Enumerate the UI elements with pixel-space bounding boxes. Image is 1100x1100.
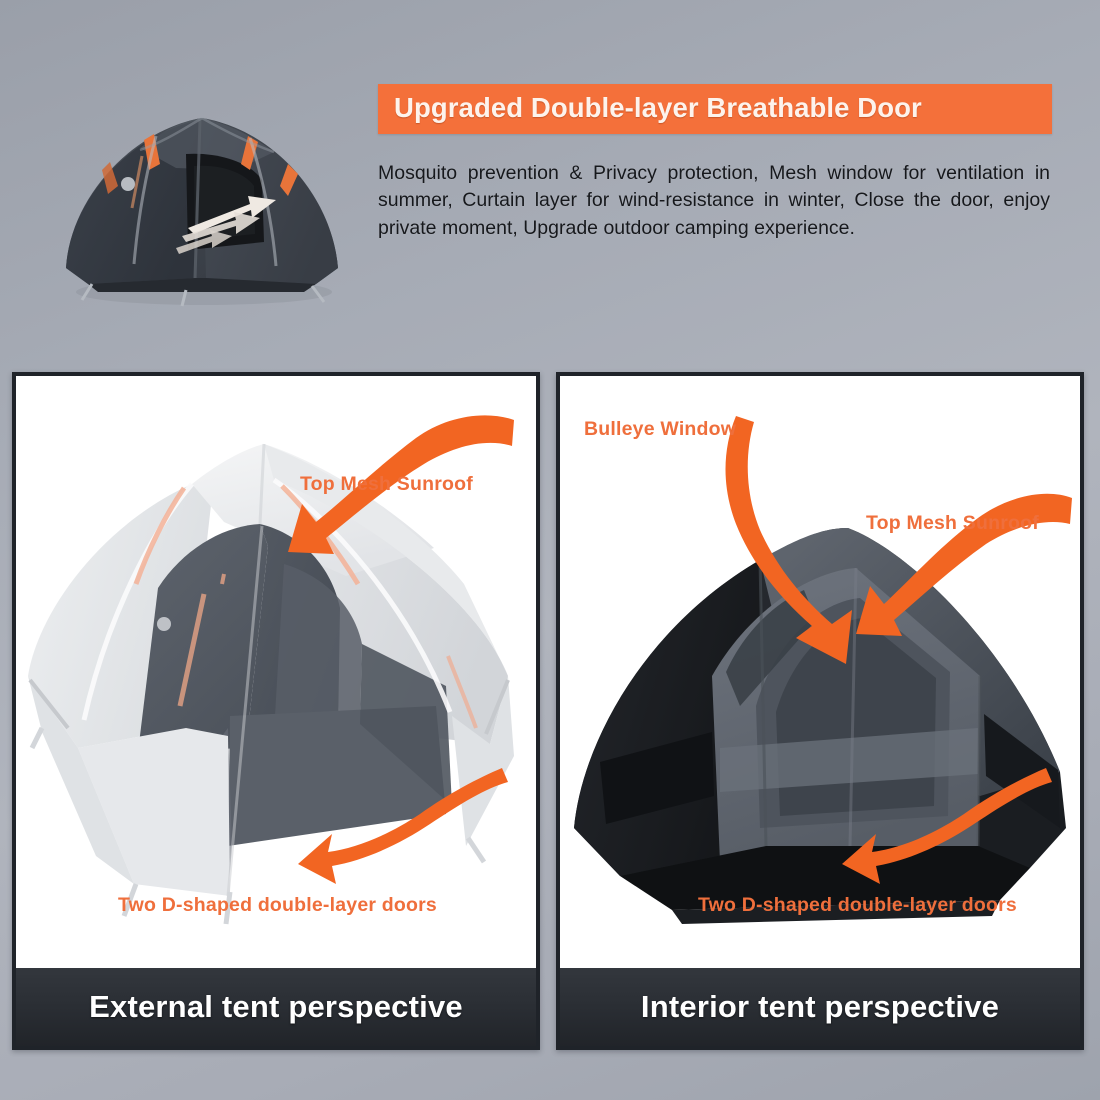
annotation-external-top-mesh-sunroof: Top Mesh Sunroof — [300, 473, 473, 496]
panel-interior-perspective: Interior tent perspective — [556, 372, 1084, 1050]
caption-text-external: External tent perspective — [89, 989, 463, 1025]
annotation-interior-bulleye-window: Bulleye Window — [584, 418, 736, 441]
description-text: Mosquito prevention & Privacy protection… — [378, 160, 1050, 243]
annotation-interior-two-d-shaped-doors: Two D-shaped double-layer doors — [698, 894, 1017, 917]
page-title: Upgraded Double-layer Breathable Door — [394, 93, 1036, 123]
tent-external-illustration-icon — [16, 376, 536, 968]
top-section: Upgraded Double-layer Breathable Door Mo… — [0, 0, 1100, 360]
annotation-external-two-d-shaped-doors: Two D-shaped double-layer doors — [118, 894, 437, 917]
caption-text-interior: Interior tent perspective — [641, 989, 999, 1025]
header-block: Upgraded Double-layer Breathable Door Mo… — [378, 84, 1068, 243]
external-tent-illustration — [16, 376, 536, 968]
annotation-interior-top-mesh-sunroof: Top Mesh Sunroof — [866, 512, 1039, 535]
title-banner: Upgraded Double-layer Breathable Door — [378, 84, 1052, 134]
tent-interior-illustration-icon — [560, 376, 1080, 968]
interior-tent-illustration — [560, 376, 1080, 968]
tent-photo-icon — [36, 78, 366, 318]
caption-bar-external: External tent perspective — [16, 968, 536, 1046]
product-thumbnail-image — [36, 78, 366, 318]
caption-bar-interior: Interior tent perspective — [560, 968, 1080, 1046]
